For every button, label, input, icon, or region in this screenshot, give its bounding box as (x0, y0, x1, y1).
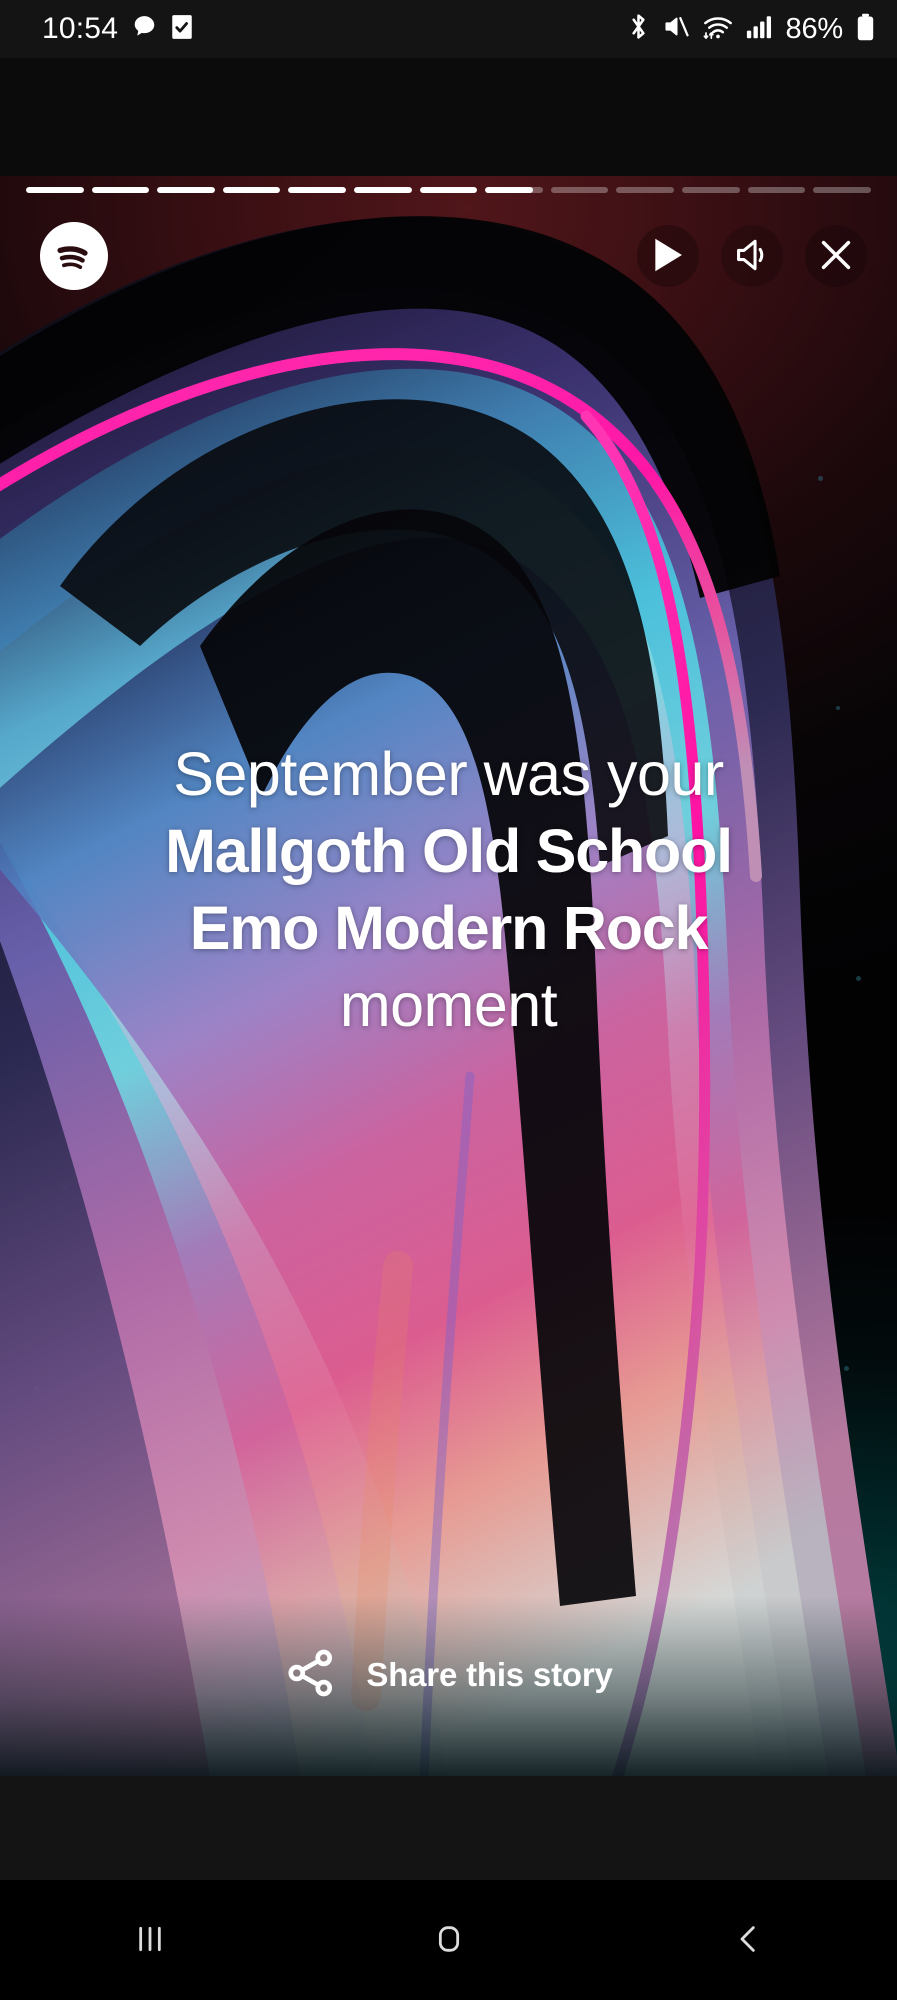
progress-segment[interactable] (551, 187, 609, 193)
chevron-left-icon (728, 1919, 768, 1962)
mute-toggle-button[interactable] (721, 225, 783, 287)
share-nodes-icon (284, 1646, 338, 1703)
progress-segment[interactable] (354, 187, 412, 193)
share-button-label: Share this story (366, 1656, 612, 1694)
close-x-icon (819, 238, 853, 275)
play-icon (651, 236, 685, 277)
android-navigation-bar (0, 1880, 897, 2000)
progress-segment[interactable] (26, 187, 84, 193)
headline-line-3: Emo Modern Rock (46, 890, 851, 967)
progress-segment[interactable] (748, 187, 806, 193)
back-button[interactable] (678, 1880, 818, 2000)
home-button[interactable] (379, 1880, 519, 2000)
progress-segment[interactable] (420, 187, 478, 193)
checkbox-checked-icon (171, 14, 193, 45)
story-control-group (637, 225, 867, 287)
status-bar-left: 10:54 (42, 12, 193, 46)
status-time: 10:54 (42, 12, 118, 46)
progress-segment[interactable] (157, 187, 215, 193)
phone-screen: 10:54 (0, 0, 897, 2000)
close-button[interactable] (805, 225, 867, 287)
battery-percentage: 86% (786, 13, 843, 46)
mute-icon (663, 13, 690, 45)
headline-line-2: Mallgoth Old School (46, 813, 851, 890)
bluetooth-icon (627, 12, 650, 46)
recents-lines-icon (130, 1919, 170, 1962)
below-story-area (0, 1776, 897, 1880)
story-card[interactable]: September was your Mallgoth Old School E… (0, 176, 897, 1776)
progress-segment[interactable] (223, 187, 281, 193)
spotify-logo-icon[interactable] (40, 222, 108, 290)
recents-button[interactable] (80, 1880, 220, 2000)
speech-bubble-icon (132, 14, 157, 44)
share-this-story-button[interactable]: Share this story (0, 1646, 897, 1703)
progress-segment[interactable] (616, 187, 674, 193)
story-top-controls (0, 202, 897, 310)
progress-segment[interactable] (92, 187, 150, 193)
progress-segment[interactable] (682, 187, 740, 193)
home-rounded-square-icon (429, 1919, 469, 1962)
speaker-icon (733, 236, 771, 277)
story-headline: September was your Mallgoth Old School E… (0, 736, 897, 1043)
progress-segment[interactable] (813, 187, 871, 193)
status-bar: 10:54 (0, 0, 897, 58)
headline-line-4: moment (46, 967, 851, 1044)
status-bar-right: 86% (627, 12, 875, 46)
headline-line-1: September was your (46, 736, 851, 813)
cellular-signal-icon (746, 15, 773, 44)
play-button[interactable] (637, 225, 699, 287)
progress-segment[interactable] (288, 187, 346, 193)
wifi-icon (703, 13, 733, 46)
battery-icon (856, 13, 875, 46)
progress-segment-active[interactable] (485, 187, 543, 193)
story-progress-bar[interactable] (0, 176, 897, 204)
